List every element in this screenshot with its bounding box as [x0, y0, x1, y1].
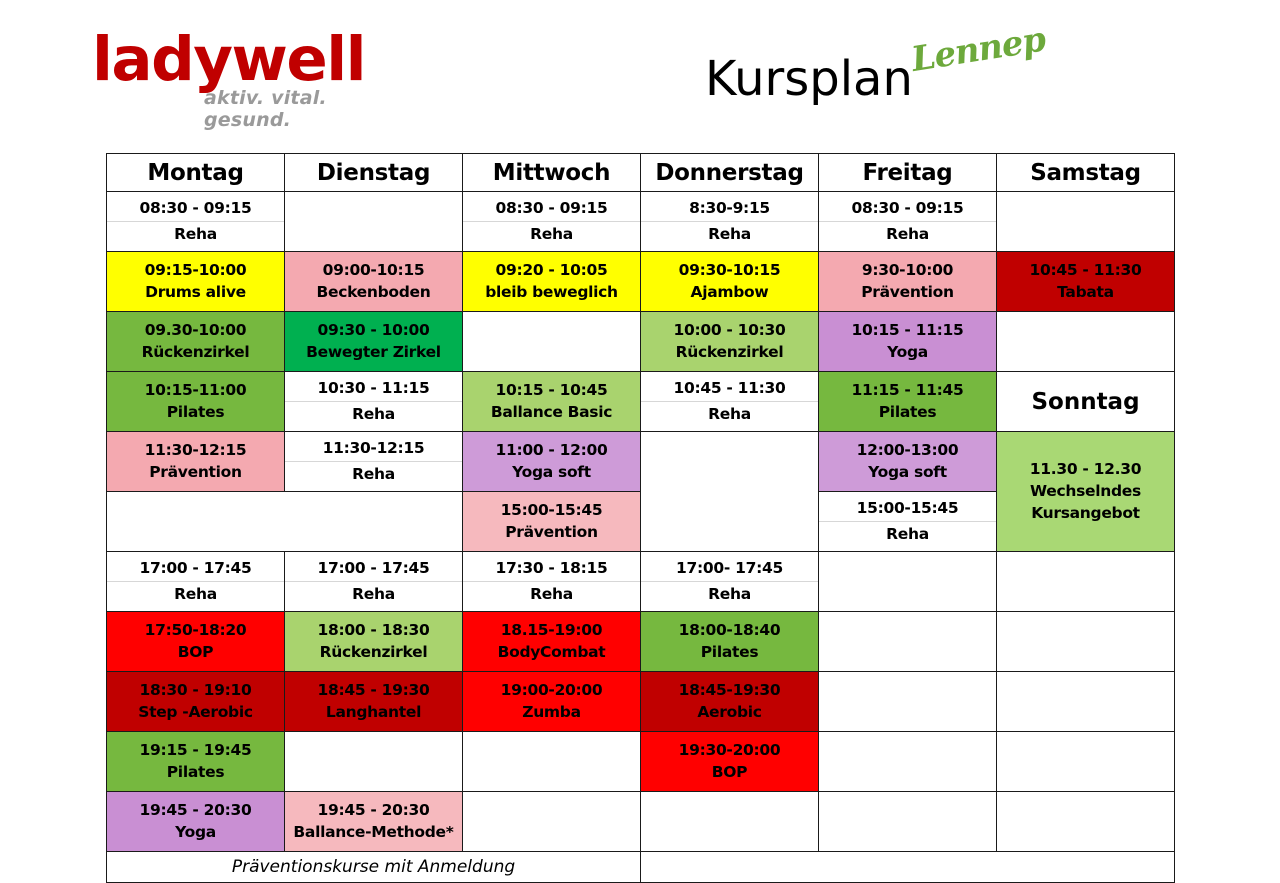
- empty-cell-donnerstag-r11: [641, 792, 819, 852]
- course-time: 10:30 - 11:15: [285, 378, 462, 402]
- course-name: Reha: [107, 224, 284, 245]
- course-name: Pilates: [819, 402, 996, 423]
- logo-tagline: aktiv. vital. gesund.: [204, 87, 362, 131]
- course-name: Reha: [641, 224, 818, 245]
- logo-wordmark: ladywell: [92, 30, 365, 90]
- course-time: 15:00-15:45: [463, 500, 640, 521]
- table-row: 19:45 - 20:30 Yoga 19:45 - 20:30 Ballanc…: [107, 792, 1175, 852]
- course-cell-dienstag-r3[interactable]: 09:30 - 10:00 Bewegter Zirkel: [285, 312, 463, 372]
- empty-cell-freitag-r7: [819, 552, 997, 612]
- course-time: 18:30 - 19:10: [107, 680, 284, 701]
- course-cell-donnerstag-r7[interactable]: 17:00- 17:45 Reha: [641, 552, 819, 612]
- course-cell-samstag-r2[interactable]: 10:45 - 11:30 Tabata: [997, 252, 1175, 312]
- course-cell-donnerstag-r1[interactable]: 8:30-9:15 Reha: [641, 192, 819, 252]
- course-name: Yoga: [107, 822, 284, 843]
- course-name: Beckenboden: [285, 282, 462, 303]
- empty-cell-samstag-r9: [997, 672, 1175, 732]
- course-cell-mittwoch-r10[interactable]: [463, 732, 641, 792]
- course-name: Yoga: [819, 342, 996, 363]
- course-cell-freitag-r2[interactable]: 9:30-10:00 Prävention: [819, 252, 997, 312]
- course-cell-mittwoch-r3[interactable]: [463, 312, 641, 372]
- empty-cell-freitag-r9: [819, 672, 997, 732]
- course-cell-dienstag-r5[interactable]: 11:30-12:15 Reha: [285, 432, 463, 492]
- course-cell-mittwoch-r11[interactable]: [463, 792, 641, 852]
- course-time: 18.15-19:00: [463, 620, 640, 641]
- course-time: 08:30 - 09:15: [463, 198, 640, 222]
- course-cell-dienstag-r10[interactable]: [285, 732, 463, 792]
- course-time: 17:50-18:20: [107, 620, 284, 641]
- table-row: 18:30 - 19:10 Step -Aerobic 18:45 - 19:3…: [107, 672, 1175, 732]
- course-time: 8:30-9:15: [641, 198, 818, 222]
- column-header-dienstag: Dienstag: [285, 154, 463, 192]
- course-schedule-table: Montag Dienstag Mittwoch Donnerstag Frei…: [106, 153, 1175, 883]
- page-header: ladywell aktiv. vital. gesund. Kursplan …: [0, 0, 1280, 150]
- empty-cell-freitag-r8: [819, 612, 997, 672]
- course-name: Tabata: [997, 282, 1174, 303]
- course-time: 12:00-13:00: [819, 440, 996, 461]
- course-cell-dienstag-r4[interactable]: 10:30 - 11:15 Reha: [285, 372, 463, 432]
- course-name: Step -Aerobic: [107, 702, 284, 723]
- course-cell-donnerstag-r4[interactable]: 10:45 - 11:30 Reha: [641, 372, 819, 432]
- course-cell-mittwoch-r9[interactable]: 19:00-20:00 Zumba: [463, 672, 641, 732]
- course-cell-montag-r9[interactable]: 18:30 - 19:10 Step -Aerobic: [107, 672, 285, 732]
- empty-cell-samstag-r8: [997, 612, 1175, 672]
- course-cell-montag-r7[interactable]: 17:00 - 17:45 Reha: [107, 552, 285, 612]
- course-cell-montag-r10[interactable]: 19:15 - 19:45 Pilates: [107, 732, 285, 792]
- course-time: 18:00-18:40: [641, 620, 818, 641]
- table-row: 17:50-18:20 BOP 18:00 - 18:30 Rückenzirk…: [107, 612, 1175, 672]
- course-time: 11.30 - 12.30: [997, 459, 1174, 480]
- course-cell-montag-r3[interactable]: 09.30-10:00 Rückenzirkel: [107, 312, 285, 372]
- course-time: 18:45-19:30: [641, 680, 818, 701]
- course-name: BodyCombat: [463, 642, 640, 663]
- column-header-freitag: Freitag: [819, 154, 997, 192]
- course-cell-freitag-r6[interactable]: 15:00-15:45 Reha: [819, 492, 997, 552]
- course-name: BOP: [641, 762, 818, 783]
- course-cell-montag-r2[interactable]: 09:15-10:00 Drums alive: [107, 252, 285, 312]
- course-cell-dienstag-r11[interactable]: 19:45 - 20:30 Ballance-Methode*: [285, 792, 463, 852]
- page-title: Kursplan Lennep: [705, 50, 913, 120]
- course-name: Ballance-Methode*: [285, 822, 462, 843]
- course-name: Reha: [641, 404, 818, 425]
- course-time: 17:30 - 18:15: [463, 558, 640, 582]
- course-cell-dienstag-r2[interactable]: 09:00-10:15 Beckenboden: [285, 252, 463, 312]
- table-row: 10:15-11:00 Pilates 10:30 - 11:15 Reha 1…: [107, 372, 1175, 432]
- course-cell-dienstag-r9[interactable]: 18:45 - 19:30 Langhantel: [285, 672, 463, 732]
- course-time: 10:15 - 11:15: [819, 320, 996, 341]
- course-cell-montag-r8[interactable]: 17:50-18:20 BOP: [107, 612, 285, 672]
- course-name: Pilates: [641, 642, 818, 663]
- course-cell-mittwoch-r2[interactable]: 09:20 - 10:05 bleib beweglich: [463, 252, 641, 312]
- footer-blank: [641, 852, 1175, 883]
- course-time: 09.30-10:00: [107, 320, 284, 341]
- column-header-montag: Montag: [107, 154, 285, 192]
- course-cell-freitag-r4[interactable]: 11:15 - 11:45 Pilates: [819, 372, 997, 432]
- column-header-samstag: Samstag: [997, 154, 1175, 192]
- course-cell-montag-r11[interactable]: 19:45 - 20:30 Yoga: [107, 792, 285, 852]
- course-cell-donnerstag-r9[interactable]: 18:45-19:30 Aerobic: [641, 672, 819, 732]
- course-cell-mittwoch-r5[interactable]: 11:00 - 12:00 Yoga soft: [463, 432, 641, 492]
- course-name: Yoga soft: [819, 462, 996, 483]
- course-time: 09:20 - 10:05: [463, 260, 640, 281]
- course-name: Reha: [819, 524, 996, 545]
- course-cell-montag-dienstag-r6[interactable]: [107, 492, 463, 552]
- course-time: 19:15 - 19:45: [107, 740, 284, 761]
- course-name: Yoga soft: [463, 462, 640, 483]
- course-name: Ballance Basic: [463, 402, 640, 423]
- course-time: 11:00 - 12:00: [463, 440, 640, 461]
- course-name: Prävention: [819, 282, 996, 303]
- course-cell-montag-r1[interactable]: 08:30 - 09:15 Reha: [107, 192, 285, 252]
- table-row: 08:30 - 09:15 Reha 08:30 - 09:15 Reha 8:…: [107, 192, 1175, 252]
- course-name: bleib beweglich: [463, 282, 640, 303]
- empty-cell-freitag-r10: [819, 732, 997, 792]
- course-name: Drums alive: [107, 282, 284, 303]
- course-time: 09:00-10:15: [285, 260, 462, 281]
- course-cell-freitag-r3[interactable]: 10:15 - 11:15 Yoga: [819, 312, 997, 372]
- course-time: 18:45 - 19:30: [285, 680, 462, 701]
- empty-cell-samstag-r7: [997, 552, 1175, 612]
- course-name: Langhantel: [285, 702, 462, 723]
- course-time: 19:00-20:00: [463, 680, 640, 701]
- course-time: 10:15-11:00: [107, 380, 284, 401]
- empty-cell-samstag-r11: [997, 792, 1175, 852]
- empty-cell-freitag-r11: [819, 792, 997, 852]
- course-cell-dienstag-r7[interactable]: 17:00 - 17:45 Reha: [285, 552, 463, 612]
- course-name: Reha: [641, 584, 818, 605]
- course-time: 11:30-12:15: [107, 440, 284, 461]
- course-name: Rückenzirkel: [641, 342, 818, 363]
- course-time: 19:45 - 20:30: [285, 800, 462, 821]
- course-cell-sonntag[interactable]: 11.30 - 12.30 Wechselndes Kursangebot: [997, 432, 1175, 552]
- ladywell-logo: ladywell aktiv. vital. gesund.: [92, 30, 362, 115]
- course-time: 08:30 - 09:15: [107, 198, 284, 222]
- title-location: Lennep: [909, 19, 1048, 80]
- course-time: 11:15 - 11:45: [819, 380, 996, 401]
- course-cell-freitag-r1[interactable]: 08:30 - 09:15 Reha: [819, 192, 997, 252]
- course-name: Aerobic: [641, 702, 818, 723]
- course-name: Bewegter Zirkel: [285, 342, 462, 363]
- course-time: 09:30-10:15: [641, 260, 818, 281]
- course-name-line2: Kursangebot: [997, 503, 1174, 524]
- course-time: 17:00 - 17:45: [285, 558, 462, 582]
- table-header-row: Montag Dienstag Mittwoch Donnerstag Frei…: [107, 154, 1175, 192]
- course-cell-donnerstag-r5[interactable]: [641, 432, 819, 552]
- course-time: 09:15-10:00: [107, 260, 284, 281]
- course-name: Reha: [285, 584, 462, 605]
- course-time: 10:00 - 10:30: [641, 320, 818, 341]
- table-row: 09.30-10:00 Rückenzirkel 09:30 - 10:00 B…: [107, 312, 1175, 372]
- course-time: 18:00 - 18:30: [285, 620, 462, 641]
- course-time: 10:15 - 10:45: [463, 380, 640, 401]
- course-name: Reha: [285, 464, 462, 485]
- course-cell-donnerstag-r8[interactable]: 18:00-18:40 Pilates: [641, 612, 819, 672]
- course-time: 10:45 - 11:30: [641, 378, 818, 402]
- course-name: Reha: [285, 404, 462, 425]
- course-time: 9:30-10:00: [819, 260, 996, 281]
- course-name: BOP: [107, 642, 284, 663]
- course-cell-mittwoch-r6[interactable]: 15:00-15:45 Prävention: [463, 492, 641, 552]
- course-name: Pilates: [107, 402, 284, 423]
- course-time: 19:30-20:00: [641, 740, 818, 761]
- course-cell-montag-r4[interactable]: 10:15-11:00 Pilates: [107, 372, 285, 432]
- table-row: 09:15-10:00 Drums alive 09:00-10:15 Beck…: [107, 252, 1175, 312]
- course-name: Rückenzirkel: [285, 642, 462, 663]
- course-name: Reha: [463, 224, 640, 245]
- course-cell-mittwoch-r8[interactable]: 18.15-19:00 BodyCombat: [463, 612, 641, 672]
- course-cell-montag-r5[interactable]: 11:30-12:15 Prävention: [107, 432, 285, 492]
- course-time: 10:45 - 11:30: [997, 260, 1174, 281]
- course-cell-donnerstag-r2[interactable]: 09:30-10:15 Ajambow: [641, 252, 819, 312]
- title-text: Kursplan: [705, 50, 913, 108]
- column-header-sonntag: Sonntag: [997, 372, 1175, 432]
- footer-note: Präventionskurse mit Anmeldung: [107, 852, 641, 883]
- course-name: Reha: [819, 224, 996, 245]
- course-time: 17:00- 17:45: [641, 558, 818, 582]
- course-name: Zumba: [463, 702, 640, 723]
- course-name: Reha: [463, 584, 640, 605]
- table-row: 11:30-12:15 Prävention 11:30-12:15 Reha …: [107, 432, 1175, 492]
- course-name: Prävention: [463, 522, 640, 543]
- course-cell-donnerstag-r3[interactable]: 10:00 - 10:30 Rückenzirkel: [641, 312, 819, 372]
- empty-cell-samstag-r10: [997, 732, 1175, 792]
- course-name: Rückenzirkel: [107, 342, 284, 363]
- course-cell-freitag-r5[interactable]: 12:00-13:00 Yoga soft: [819, 432, 997, 492]
- course-time: 15:00-15:45: [819, 498, 996, 522]
- course-time: 11:30-12:15: [285, 438, 462, 462]
- course-name: Reha: [107, 584, 284, 605]
- table-row: 19:15 - 19:45 Pilates 19:30-20:00 BOP: [107, 732, 1175, 792]
- course-time: 09:30 - 10:00: [285, 320, 462, 341]
- course-name: Pilates: [107, 762, 284, 783]
- footer-row: Präventionskurse mit Anmeldung: [107, 852, 1175, 883]
- course-cell-mittwoch-r1[interactable]: 08:30 - 09:15 Reha: [463, 192, 641, 252]
- column-header-donnerstag: Donnerstag: [641, 154, 819, 192]
- course-time: 19:45 - 20:30: [107, 800, 284, 821]
- course-cell-mittwoch-r4[interactable]: 10:15 - 10:45 Ballance Basic: [463, 372, 641, 432]
- course-name: Prävention: [107, 462, 284, 483]
- table-row: 17:00 - 17:45 Reha 17:00 - 17:45 Reha 17…: [107, 552, 1175, 612]
- course-time: 17:00 - 17:45: [107, 558, 284, 582]
- course-name: Ajambow: [641, 282, 818, 303]
- course-time: 08:30 - 09:15: [819, 198, 996, 222]
- course-cell-dienstag-r8[interactable]: 18:00 - 18:30 Rückenzirkel: [285, 612, 463, 672]
- course-cell-mittwoch-r7[interactable]: 17:30 - 18:15 Reha: [463, 552, 641, 612]
- course-cell-dienstag-r1[interactable]: [285, 192, 463, 252]
- course-cell-samstag-r3[interactable]: [997, 312, 1175, 372]
- course-name-line1: Wechselndes: [997, 481, 1174, 502]
- column-header-mittwoch: Mittwoch: [463, 154, 641, 192]
- course-cell-samstag-r1[interactable]: [997, 192, 1175, 252]
- course-cell-donnerstag-r10[interactable]: 19:30-20:00 BOP: [641, 732, 819, 792]
